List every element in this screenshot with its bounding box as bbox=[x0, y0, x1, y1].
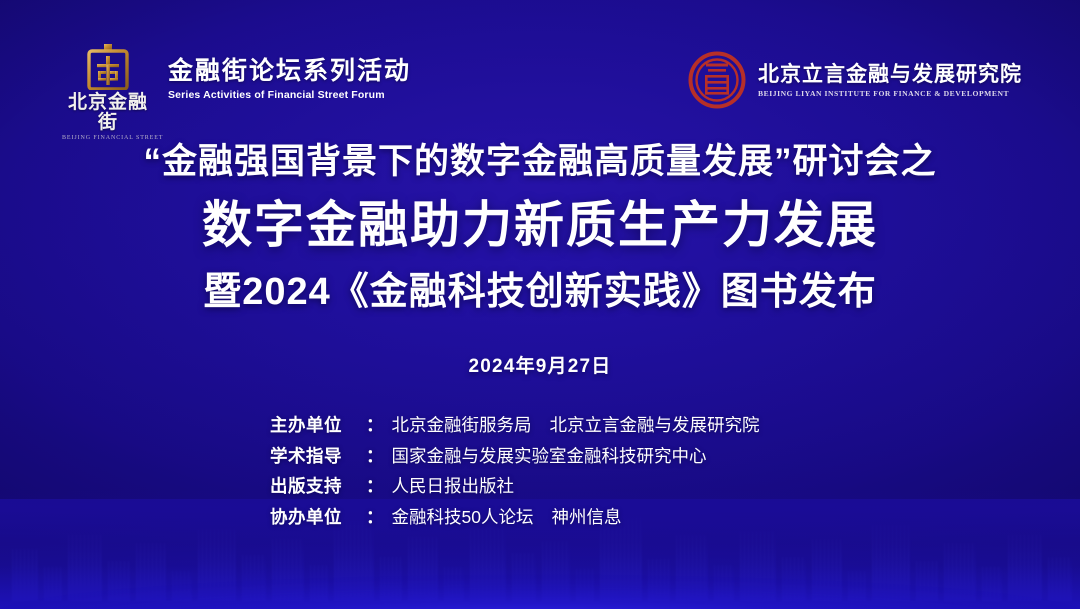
liyan-institute-en: BEIJING LIYAN INSTITUTE FOR FINANCE & DE… bbox=[758, 89, 1022, 98]
event-date: 2024年9月27日 bbox=[0, 351, 1080, 378]
credit-label: 协办单位 bbox=[270, 506, 366, 530]
credit-value: 金融科技50人论坛 bbox=[392, 507, 534, 527]
credit-label: 主办单位 bbox=[270, 414, 366, 438]
title-line-1: “金融强国背景下的数字金融高质量发展”研讨会之 bbox=[0, 140, 1080, 184]
forum-series-text: 金融街论坛系列活动 Series Activities of Financial… bbox=[168, 44, 411, 101]
floor-light-streak bbox=[0, 577, 1080, 609]
credit-value: 神州信息 bbox=[551, 507, 621, 527]
credit-values: 人民日报出版社 bbox=[392, 475, 515, 499]
forum-title-cn: 金融街论坛系列活动 bbox=[168, 58, 411, 86]
credit-colon: ： bbox=[366, 414, 384, 438]
credit-values: 金融科技50人论坛神州信息 bbox=[392, 506, 622, 530]
liyan-institute-logo: 北京立言金融与发展研究院 BEIJING LIYAN INSTITUTE FOR… bbox=[687, 50, 1022, 110]
poster-canvas: 北京金融街 BEIJING FINANCIAL STREET 金融街论坛系列活动… bbox=[0, 0, 1080, 609]
financial-street-brand-cn: 北京金融街 bbox=[62, 93, 154, 133]
credit-label: 学术指导 bbox=[270, 445, 366, 469]
financial-street-logo: 北京金融街 BEIJING FINANCIAL STREET 金融街论坛系列活动… bbox=[62, 44, 411, 141]
financial-street-mark: 北京金融街 BEIJING FINANCIAL STREET bbox=[62, 44, 154, 141]
credit-values: 北京金融街服务局北京立言金融与发展研究院 bbox=[392, 414, 760, 438]
logo-row: 北京金融街 BEIJING FINANCIAL STREET 金融街论坛系列活动… bbox=[0, 44, 1080, 122]
liyan-institute-text: 北京立言金融与发展研究院 BEIJING LIYAN INSTITUTE FOR… bbox=[758, 62, 1022, 97]
credit-value: 北京金融街服务局 bbox=[392, 415, 532, 435]
credit-value: 北京立言金融与发展研究院 bbox=[550, 415, 760, 435]
liyan-institute-round-seal-icon bbox=[687, 50, 747, 110]
beijing-financial-street-seal-icon bbox=[86, 44, 130, 90]
credit-value: 人民日报出版社 bbox=[392, 476, 515, 496]
credit-row: 出版支持 ： 人民日报出版社 bbox=[270, 475, 810, 499]
forum-title-en: Series Activities of Financial Street Fo… bbox=[168, 89, 411, 101]
credit-row: 协办单位 ： 金融科技50人论坛神州信息 bbox=[270, 506, 810, 530]
credit-row: 主办单位 ： 北京金融街服务局北京立言金融与发展研究院 bbox=[270, 414, 810, 438]
title-line-2: 数字金融助力新质生产力发展 bbox=[0, 193, 1080, 258]
credit-value: 国家金融与发展实验室金融科技研究中心 bbox=[392, 446, 707, 466]
credit-colon: ： bbox=[366, 506, 384, 530]
credit-row: 学术指导 ： 国家金融与发展实验室金融科技研究中心 bbox=[270, 445, 810, 469]
credit-colon: ： bbox=[366, 445, 384, 469]
credit-label: 出版支持 bbox=[270, 475, 366, 499]
liyan-institute-cn: 北京立言金融与发展研究院 bbox=[758, 62, 1022, 86]
credits-block: 主办单位 ： 北京金融街服务局北京立言金融与发展研究院 学术指导 ： 国家金融与… bbox=[0, 414, 1080, 537]
credit-values: 国家金融与发展实验室金融科技研究中心 bbox=[392, 445, 707, 469]
title-block: “金融强国背景下的数字金融高质量发展”研讨会之 数字金融助力新质生产力发展 暨2… bbox=[0, 140, 1080, 378]
credit-colon: ： bbox=[366, 475, 384, 499]
title-line-3: 暨2024《金融科技创新实践》图书发布 bbox=[0, 268, 1080, 317]
